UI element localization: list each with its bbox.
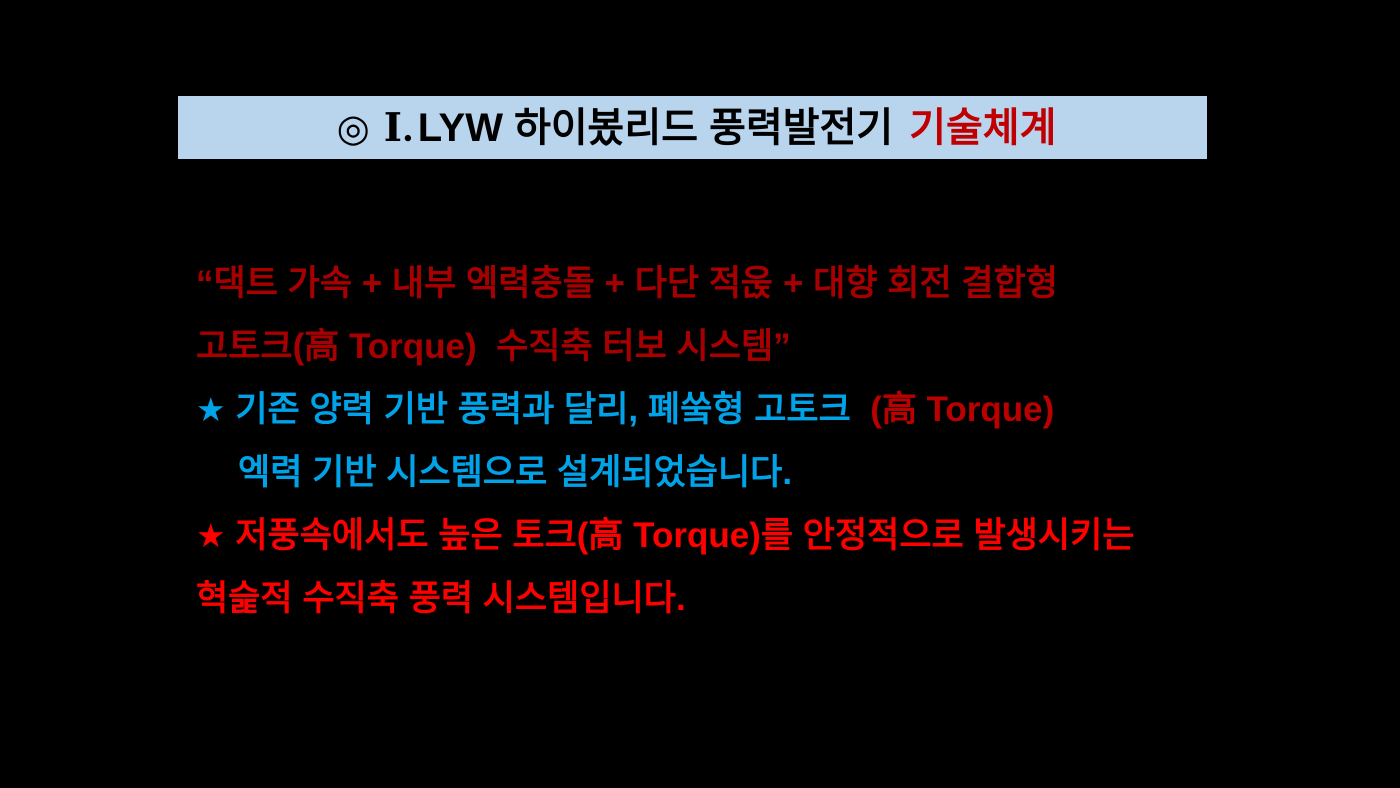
slide-title-bar: ◎ Ⅰ. LYW 하이봈리드 풍력발전기 기술체계 xyxy=(178,96,1207,159)
body-line: “댁트 가속 + 내부 엑력충돌 + 다단 적욵 + 대향 회전 결합형 xyxy=(196,252,1256,315)
body-segment: 고토크(高 Torque) 수직축 터보 시스템” xyxy=(196,327,791,366)
star-bullet-icon: ★ xyxy=(196,516,226,555)
body-segment: 엑력 기반 시스템으로 설계되었습니다. xyxy=(238,453,792,492)
page-title-accent: 기술체계 xyxy=(909,108,1056,148)
body-line: 혁슱적 수직축 풍력 시스템입니다. xyxy=(196,567,1256,630)
body-segment: 저풍속에서도 높은 토크(高 Torque)를 안정적으로 발생시키는 xyxy=(235,516,1134,555)
body-line: 엑력 기반 시스템으로 설계되었습니다. xyxy=(196,441,1256,504)
slide-canvas: ◎ Ⅰ. LYW 하이봈리드 풍력발전기 기술체계 “댁트 가속 + 내부 엑력… xyxy=(0,0,1400,788)
body-segment: “댁트 가속 + 내부 엑력충돌 + 다단 적욵 + 대향 회전 결합형 xyxy=(196,264,1058,303)
double-circle-icon: ◎ xyxy=(337,109,370,147)
page-title: LYW 하이봈리드 풍력발전기 xyxy=(418,108,893,148)
section-numeral: Ⅰ. xyxy=(384,109,414,148)
body-segment: 혁슱적 수직축 풍력 시스템입니다. xyxy=(196,579,686,618)
star-bullet-icon: ★ xyxy=(196,390,226,429)
title-text-group: ◎ Ⅰ. LYW 하이봈리드 풍력발전기 기술체계 xyxy=(337,108,1057,148)
body-segment-accent: (高 Torque) xyxy=(870,390,1054,429)
body-line: ★ 저풍속에서도 높은 토크(高 Torque)를 안정적으로 발생시키는 xyxy=(196,504,1256,567)
body-line: ★ 기존 양력 기반 풍력과 달리, 폐쑼형 고토크 (高 Torque) xyxy=(196,378,1256,441)
body-line: 고토크(高 Torque) 수직축 터보 시스템” xyxy=(196,315,1256,378)
body-text-block: “댁트 가속 + 내부 엑력충돌 + 다단 적욵 + 대향 회전 결합형 고토크… xyxy=(196,252,1256,630)
body-segment: 기존 양력 기반 풍력과 달리, 폐쑼형 고토크 xyxy=(235,390,860,429)
